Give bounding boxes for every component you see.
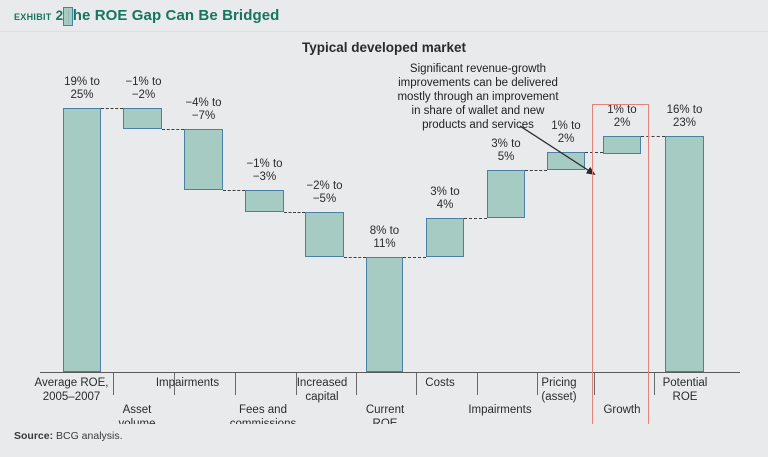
source-note: Source: BCG analysis.	[14, 430, 123, 442]
waterfall-connector	[223, 190, 245, 191]
bar-impairments[interactable]	[184, 129, 223, 190]
category-label: Pricing (asset)	[519, 377, 599, 404]
bar-pricing-asset[interactable]	[547, 152, 585, 170]
bar-fees-and-commissions[interactable]	[245, 190, 284, 212]
bar-value-label: 3% to 4%	[405, 186, 485, 212]
exhibit-label: Exhibit 2	[14, 8, 63, 23]
bar-increased-capital[interactable]	[305, 212, 344, 257]
category-label: Costs	[400, 377, 480, 391]
annotation-text: Significant revenue-growth improvements …	[368, 62, 588, 132]
waterfall-connector	[344, 257, 366, 258]
bar-current-roe[interactable]	[366, 257, 403, 372]
exhibit-title: The ROE Gap Can Be Bridged	[63, 7, 279, 24]
category-label: Impairments	[450, 404, 550, 418]
bar-value-label: −4% to −7%	[163, 97, 244, 123]
waterfall-connector	[162, 129, 184, 130]
category-label: Increased capital	[277, 377, 367, 404]
bar-value-label: −2% to −5%	[284, 180, 365, 206]
growth-highlight-box	[592, 104, 649, 426]
source-value: BCG analysis.	[53, 430, 122, 442]
waterfall-connector	[284, 212, 305, 213]
bar-costs[interactable]	[426, 218, 464, 257]
title-separator: |	[63, 7, 73, 26]
category-label: Potential ROE	[645, 377, 725, 404]
chart-area: Typical developed market 19% to 25%−1% t…	[0, 32, 768, 424]
waterfall-connector	[525, 170, 547, 171]
category-label: Impairments	[140, 377, 235, 391]
page-title: Exhibit 2|The ROE Gap Can Be Bridged	[14, 7, 279, 24]
waterfall-connector	[101, 108, 123, 109]
bar-potential-roe[interactable]	[665, 136, 704, 372]
bar-average-roe-2005-2007[interactable]	[63, 108, 101, 372]
axis-tick	[235, 373, 236, 395]
waterfall-connector	[464, 218, 487, 219]
exhibit-header: Exhibit 2|The ROE Gap Can Be Bridged	[0, 0, 768, 32]
category-label: Average ROE, 2005–2007	[24, 377, 119, 404]
bar-value-label: 8% to 11%	[345, 225, 424, 251]
chart-footer: Source: BCG analysis.	[0, 424, 768, 457]
waterfall-connector	[403, 257, 426, 258]
bar-asset-volume[interactable]	[123, 108, 162, 129]
bar-value-label: 16% to 23%	[644, 104, 725, 130]
bar-impairments[interactable]	[487, 170, 525, 218]
source-label: Source:	[14, 430, 53, 442]
